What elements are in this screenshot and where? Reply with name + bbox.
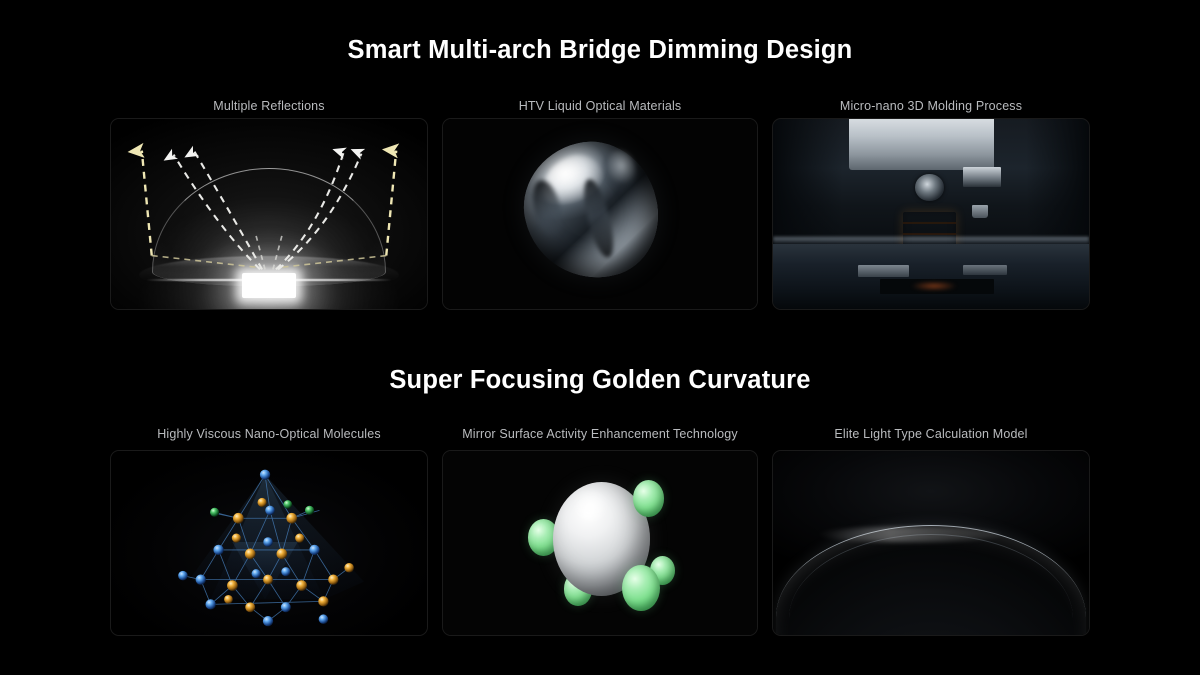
panel-htv-liquid-optical-materials[interactable] — [442, 118, 758, 310]
panel-multiple-reflections[interactable] — [110, 118, 428, 310]
caption-highly-viscous-nano-optical-molecules: Highly Viscous Nano-Optical Molecules — [110, 427, 428, 441]
caption-micro-nano-3d-molding-process: Micro-nano 3D Molding Process — [772, 99, 1090, 113]
section-title-super-focusing-golden-curvature: Super Focusing Golden Curvature — [0, 366, 1200, 395]
molecule-satellite-sphere — [622, 565, 660, 611]
panel-highly-viscous-nano-optical-molecules[interactable] — [110, 450, 428, 636]
copper-band — [903, 222, 957, 224]
caption-htv-liquid-optical-materials: HTV Liquid Optical Materials — [442, 99, 758, 113]
bed-plate-left — [858, 265, 909, 276]
copper-band — [903, 233, 957, 235]
section-title-smart-multi-arch-bridge-dimming-design: Smart Multi-arch Bridge Dimming Design — [0, 36, 1200, 65]
caption-elite-light-type-calculation-model: Elite Light Type Calculation Model — [772, 427, 1090, 441]
machine-bed — [773, 244, 1089, 309]
vignette-left — [773, 119, 843, 244]
molecular-lattice-diagram — [111, 451, 427, 635]
secondary-nozzle — [972, 205, 988, 218]
machine-side-module — [963, 167, 1001, 188]
panel-mirror-surface-activity-enhancement-technology[interactable] — [442, 450, 758, 636]
vignette-right — [1026, 119, 1089, 237]
caption-multiple-reflections: Multiple Reflections — [110, 99, 428, 113]
caption-mirror-surface-activity-enhancement-technology: Mirror Surface Activity Enhancement Tech… — [432, 427, 768, 441]
bed-plate-right — [963, 265, 1007, 275]
panel-micro-nano-3d-molding-process[interactable] — [772, 118, 1090, 310]
molecule-core-highlight — [572, 490, 610, 523]
feature-showcase-page: Smart Multi-arch Bridge Dimming Design M… — [0, 0, 1200, 675]
machining-spark-glow — [912, 282, 956, 290]
reflection-arrows-group — [111, 119, 427, 309]
machine-camera-lens-icon — [915, 174, 943, 201]
panel-elite-light-type-calculation-model[interactable] — [772, 450, 1090, 636]
lens-rim-sheen — [817, 527, 1000, 542]
